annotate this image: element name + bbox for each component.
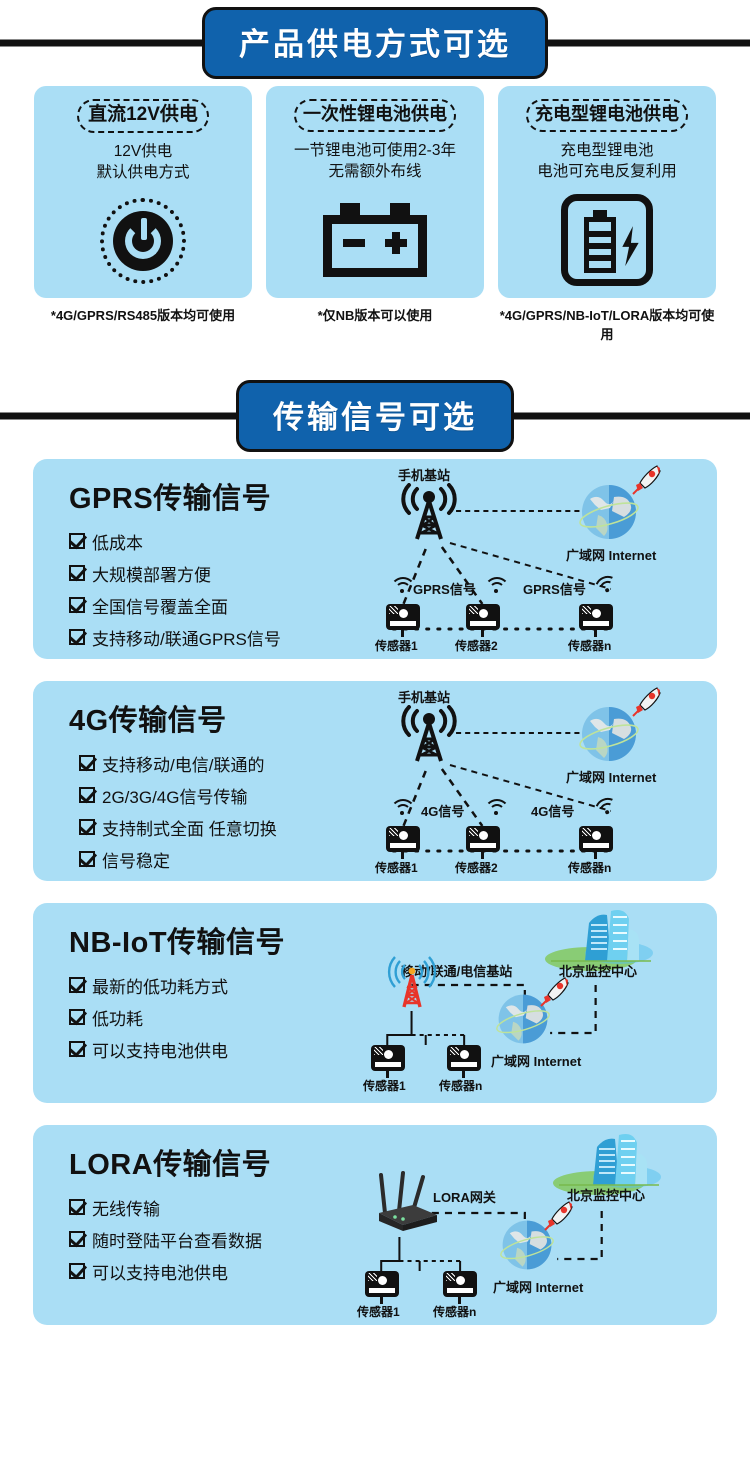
- list-item: 无线传输: [69, 1195, 363, 1220]
- sensor-icon: [466, 826, 500, 854]
- check-icon: [69, 1231, 85, 1247]
- list-item: 低功耗: [69, 1005, 363, 1030]
- battery-nub: [593, 210, 607, 217]
- power-section-banner: 产品供电方式可选: [0, 0, 750, 86]
- panel-diagram-lora: 北京监控中心 LORA网关: [363, 1125, 717, 1325]
- sensor-icon: [579, 604, 613, 632]
- panel-bullet-list: 最新的低功耗方式 低功耗 可以支持电池供电: [69, 973, 363, 1062]
- list-item: 支持移动/电信/联通的: [79, 751, 363, 776]
- panel-title: LORA传输信号: [69, 1141, 363, 1183]
- transmission-panel-4g[interactable]: 4G传输信号 支持移动/电信/联通的 2G/3G/4G信号传输 支持制式全面 任…: [33, 681, 717, 881]
- transmission-banner-title: 传输信号可选: [273, 400, 477, 435]
- list-item: 大规模部署方便: [69, 561, 363, 586]
- card-icon-slot: [498, 182, 716, 298]
- base-station-label: 手机基站: [398, 687, 450, 706]
- car-battery-icon: [323, 203, 427, 277]
- check-icon: [79, 819, 95, 835]
- sensor-icon: [365, 1271, 399, 1299]
- signal-label-2: GPRS信号: [523, 579, 586, 598]
- desc-line-2: 无需额外布线: [294, 161, 456, 182]
- panel-bullet-list: 支持移动/电信/联通的 2G/3G/4G信号传输 支持制式全面 任意切换 信号稳…: [69, 751, 363, 872]
- internet-label: 广域网 Internet: [491, 1051, 581, 1070]
- list-item: 支持制式全面 任意切换: [79, 815, 363, 840]
- cell-tower-icon: [393, 483, 465, 539]
- card-footnote: *4G/GPRS/RS485版本均可使用: [31, 307, 256, 326]
- bullet-label: 支持移动/电信/联通的: [102, 751, 264, 776]
- rocket-icon: [631, 685, 661, 715]
- card-icon-slot: [34, 184, 252, 299]
- bullet-label: 信号稳定: [102, 847, 170, 872]
- list-item: 信号稳定: [79, 847, 363, 872]
- sensor-label: 传感器1: [375, 859, 418, 876]
- panel-bullet-list: 低成本 大规模部署方便 全国信号覆盖全面 支持移动/联通GPRS信号: [69, 529, 363, 650]
- list-item: 低成本: [69, 529, 363, 554]
- card-body: 直流12V供电 12V供电 默认供电方式: [34, 86, 252, 298]
- bullet-label: 可以支持电池供电: [92, 1259, 228, 1284]
- internet-label: 广域网 Internet: [493, 1277, 583, 1296]
- desc-line-2: 电池可充电反复利用: [537, 161, 677, 182]
- panel-title: GPRS传输信号: [69, 475, 363, 517]
- lightning-bolt-icon: [618, 226, 642, 266]
- list-item: 随时登陆平台查看数据: [69, 1227, 363, 1252]
- bullet-label: 最新的低功耗方式: [92, 973, 228, 998]
- power-banner-title: 产品供电方式可选: [239, 27, 511, 62]
- banner-box: 传输信号可选: [236, 380, 514, 452]
- bullet-label: 支持制式全面 任意切换: [102, 815, 277, 840]
- bullet-label: 可以支持电池供电: [92, 1037, 228, 1062]
- battery-level-2: [589, 243, 611, 249]
- battery-level-3: [589, 255, 611, 261]
- internet-label: 广域网 Internet: [566, 767, 656, 786]
- bullet-label: 大规模部署方便: [92, 561, 211, 586]
- check-icon: [69, 1009, 85, 1025]
- sensor-label: 传感器2: [455, 859, 498, 876]
- wifi-icon: [390, 799, 412, 815]
- signal-label-1: GPRS信号: [413, 579, 476, 598]
- check-icon: [69, 533, 85, 549]
- power-cards-row: 直流12V供电 12V供电 默认供电方式 *4G/GPRS/RS485版本均可使…: [0, 86, 750, 345]
- card-footnote: *4G/GPRS/NB-IoT/LORA版本均可使用: [495, 307, 720, 345]
- list-item: 可以支持电池供电: [69, 1037, 363, 1062]
- bullet-label: 无线传输: [92, 1195, 160, 1220]
- power-card-rechargeable-lithium[interactable]: 充电型锂电池供电 充电型锂电池 电池可充电反复利用 *4G/GPRS/NB-Io…: [498, 86, 716, 345]
- sensor-icon: [466, 604, 500, 632]
- sensor-label: 传感器n: [433, 1303, 476, 1320]
- card-body: 充电型锂电池供电 充电型锂电池 电池可充电反复利用: [498, 86, 716, 298]
- sensor-icon: [443, 1271, 477, 1299]
- list-item: 支持移动/联通GPRS信号: [69, 625, 363, 650]
- card-description: 12V供电 默认供电方式: [96, 141, 189, 184]
- panel-text-column: GPRS传输信号 低成本 大规模部署方便 全国信号覆盖全面 支持移动/联通GPR…: [33, 459, 363, 659]
- transmission-panel-nbiot[interactable]: NB-IoT传输信号 最新的低功耗方式 低功耗 可以支持电池供电 北京监控中心 …: [33, 903, 717, 1103]
- card-body: 一次性锂电池供电 一节锂电池可使用2-3年 无需额外布线: [266, 86, 484, 298]
- panel-text-column: NB-IoT传输信号 最新的低功耗方式 低功耗 可以支持电池供电: [33, 903, 363, 1103]
- wifi-icon: [390, 577, 412, 593]
- base-station-label: 手机基站: [398, 465, 450, 484]
- list-item: 2G/3G/4G信号传输: [79, 783, 363, 808]
- wifi-icon: [484, 577, 506, 593]
- plus-sign-v: [392, 232, 400, 254]
- card-description: 一节锂电池可使用2-3年 无需额外布线: [294, 140, 456, 183]
- list-item: 最新的低功耗方式: [69, 973, 363, 998]
- card-footnote: *仅NB版本可以使用: [263, 307, 488, 326]
- power-card-dc12v[interactable]: 直流12V供电 12V供电 默认供电方式 *4G/GPRS/RS485版本均可使…: [34, 86, 252, 345]
- desc-line-1: 充电型锂电池: [537, 140, 677, 161]
- sensor-label: 传感器n: [439, 1077, 482, 1094]
- sensor-icon: [579, 826, 613, 854]
- banner-box: 产品供电方式可选: [202, 7, 548, 79]
- sensor-label: 传感器1: [375, 637, 418, 654]
- sensor-label: 传感器n: [568, 637, 611, 654]
- power-button-icon: [100, 198, 186, 284]
- rocket-icon: [543, 1199, 573, 1229]
- panel-diagram-4g: 手机基站: [363, 681, 717, 881]
- desc-line-1: 一节锂电池可使用2-3年: [294, 140, 456, 161]
- bullet-label: 全国信号覆盖全面: [92, 593, 228, 618]
- list-item: 全国信号覆盖全面: [69, 593, 363, 618]
- rocket-icon: [539, 975, 569, 1005]
- power-card-primary-lithium[interactable]: 一次性锂电池供电 一节锂电池可使用2-3年 无需额外布线 *仅NB版本可以使用: [266, 86, 484, 345]
- power-bar: [141, 218, 147, 240]
- sensor-icon: [371, 1045, 405, 1073]
- check-icon: [69, 1263, 85, 1279]
- minus-sign: [343, 239, 365, 247]
- sensor-icon: [386, 604, 420, 632]
- check-icon: [69, 977, 85, 993]
- cell-tower-icon: [393, 705, 465, 761]
- panel-diagram-nbiot: 北京监控中心 移动/联通/电信基站: [363, 903, 717, 1103]
- transmission-section-banner: 传输信号可选: [0, 373, 750, 459]
- check-icon: [69, 1041, 85, 1057]
- panel-text-column: LORA传输信号 无线传输 随时登陆平台查看数据 可以支持电池供电: [33, 1125, 363, 1325]
- check-icon: [69, 629, 85, 645]
- battery-level-1: [589, 231, 611, 237]
- card-title-pill: 一次性锂电池供电: [294, 99, 456, 132]
- check-icon: [69, 565, 85, 581]
- battery-body: [323, 215, 427, 277]
- check-icon: [79, 851, 95, 867]
- sensor-label: 传感器2: [455, 637, 498, 654]
- sensor-label: 传感器1: [363, 1077, 406, 1094]
- check-icon: [79, 787, 95, 803]
- lora-gateway-icon: [373, 1169, 439, 1225]
- signal-label-2: 4G信号: [531, 801, 574, 820]
- list-item: 可以支持电池供电: [69, 1259, 363, 1284]
- sensor-label: 传感器n: [568, 859, 611, 876]
- rechargeable-battery-icon: [561, 194, 653, 286]
- sensor-label: 传感器1: [357, 1303, 400, 1320]
- check-icon: [69, 597, 85, 613]
- rocket-icon: [631, 463, 661, 493]
- internet-label: 广域网 Internet: [566, 545, 656, 564]
- panel-diagram-gprs: 手机基站: [363, 459, 717, 659]
- card-title-pill: 直流12V供电: [77, 99, 209, 133]
- bullet-label: 2G/3G/4G信号传输: [102, 783, 247, 808]
- sensor-icon: [386, 826, 420, 854]
- sensor-icon: [447, 1045, 481, 1073]
- transmission-panel-gprs[interactable]: GPRS传输信号 低成本 大规模部署方便 全国信号覆盖全面 支持移动/联通GPR…: [33, 459, 717, 659]
- transmission-panel-lora[interactable]: LORA传输信号 无线传输 随时登陆平台查看数据 可以支持电池供电 北京监控中心…: [33, 1125, 717, 1325]
- desc-line-2: 默认供电方式: [96, 162, 189, 183]
- panel-bullet-list: 无线传输 随时登陆平台查看数据 可以支持电池供电: [69, 1195, 363, 1284]
- panel-title: NB-IoT传输信号: [69, 919, 363, 961]
- bullet-label: 低功耗: [92, 1005, 143, 1030]
- card-title-pill: 充电型锂电池供电: [526, 99, 688, 132]
- bullet-label: 低成本: [92, 529, 143, 554]
- check-icon: [69, 1199, 85, 1215]
- check-icon: [79, 755, 95, 771]
- bullet-label: 支持移动/联通GPRS信号: [92, 625, 281, 650]
- bullet-label: 随时登陆平台查看数据: [92, 1227, 262, 1252]
- panel-text-column: 4G传输信号 支持移动/电信/联通的 2G/3G/4G信号传输 支持制式全面 任…: [33, 681, 363, 881]
- desc-line-1: 12V供电: [96, 141, 189, 162]
- card-icon-slot: [266, 182, 484, 298]
- signal-label-1: 4G信号: [421, 801, 464, 820]
- panel-title: 4G传输信号: [69, 697, 363, 739]
- wifi-icon: [484, 799, 506, 815]
- card-description: 充电型锂电池 电池可充电反复利用: [537, 140, 677, 183]
- cell-tower-icon: [385, 951, 439, 1011]
